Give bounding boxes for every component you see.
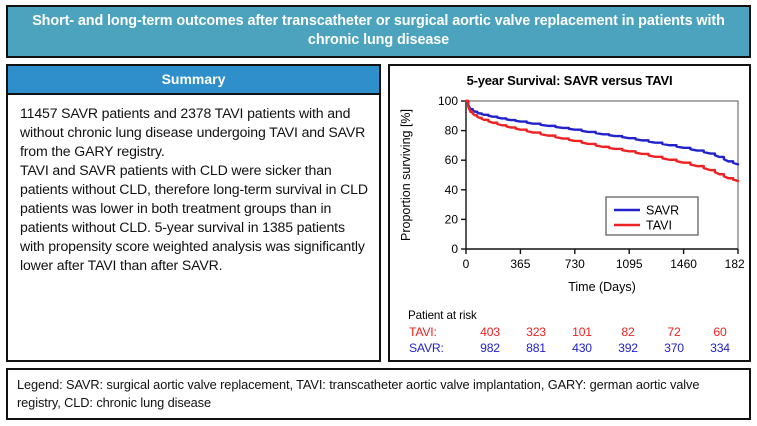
legend-label-tavi: TAVI xyxy=(646,219,672,233)
patient-at-risk-value: 392 xyxy=(605,340,651,356)
survival-plot-svg: 0204060801000365730109514601825Time (Day… xyxy=(394,89,744,305)
patient-at-risk-row: SAVR:982881430392370334 xyxy=(408,340,743,356)
patient-at-risk-value: 60 xyxy=(697,324,743,340)
chart-panel: 5-year Survival: SAVR versus TAVI 020406… xyxy=(388,64,751,362)
patient-at-risk-value: 82 xyxy=(605,324,651,340)
patient-at-risk-value: 101 xyxy=(559,324,605,340)
patient-at-risk-row-label: TAVI: xyxy=(408,324,467,340)
x-axis-title: Time (Days) xyxy=(568,280,636,294)
chart-title: 5-year Survival: SAVR versus TAVI xyxy=(394,71,745,89)
patient-at-risk-section: Patient at risk TAVI:403323101827260SAVR… xyxy=(394,307,745,356)
patient-at-risk-value: 403 xyxy=(467,324,513,340)
summary-header: Summary xyxy=(8,66,379,95)
main-content: Summary 11457 SAVR patients and 2378 TAV… xyxy=(6,64,751,362)
y-tick-label: 60 xyxy=(445,153,459,167)
patient-at-risk-row-label: SAVR: xyxy=(408,340,467,356)
patient-at-risk-value: 982 xyxy=(467,340,513,356)
y-tick-label: 40 xyxy=(445,183,459,197)
summary-body: 11457 SAVR patients and 2378 TAVI patien… xyxy=(8,95,379,281)
patient-at-risk-row: TAVI:403323101827260 xyxy=(408,324,743,340)
patient-at-risk-value: 370 xyxy=(651,340,697,356)
x-tick-label: 730 xyxy=(565,257,585,271)
patient-at-risk-value: 430 xyxy=(559,340,605,356)
y-tick-label: 80 xyxy=(445,124,459,138)
x-tick-label: 365 xyxy=(510,257,530,271)
patient-at-risk-value: 334 xyxy=(697,340,743,356)
summary-panel: Summary 11457 SAVR patients and 2378 TAV… xyxy=(6,64,381,362)
patient-at-risk-value: 72 xyxy=(651,324,697,340)
poster: Short- and long-term outcomes after tran… xyxy=(0,0,757,426)
y-tick-label: 20 xyxy=(445,212,459,226)
patient-at-risk-title: Patient at risk xyxy=(408,309,743,324)
x-tick-label: 1825 xyxy=(725,257,744,271)
patient-at-risk-value: 323 xyxy=(513,324,559,340)
x-tick-label: 1460 xyxy=(670,257,697,271)
legend-label-savr: SAVR xyxy=(646,204,679,218)
x-tick-label: 0 xyxy=(463,257,470,271)
survival-plot: 0204060801000365730109514601825Time (Day… xyxy=(394,89,745,307)
y-tick-label: 100 xyxy=(438,94,458,108)
poster-title: Short- and long-term outcomes after tran… xyxy=(6,5,751,58)
patient-at-risk-value: 881 xyxy=(513,340,559,356)
legend-footer: Legend: SAVR: surgical aortic valve repl… xyxy=(6,368,751,420)
x-tick-label: 1095 xyxy=(616,257,643,271)
y-tick-label: 0 xyxy=(451,242,458,256)
y-axis-title: Proportion surviving [%] xyxy=(399,109,413,241)
patient-at-risk-table: TAVI:403323101827260SAVR:982881430392370… xyxy=(408,324,743,356)
